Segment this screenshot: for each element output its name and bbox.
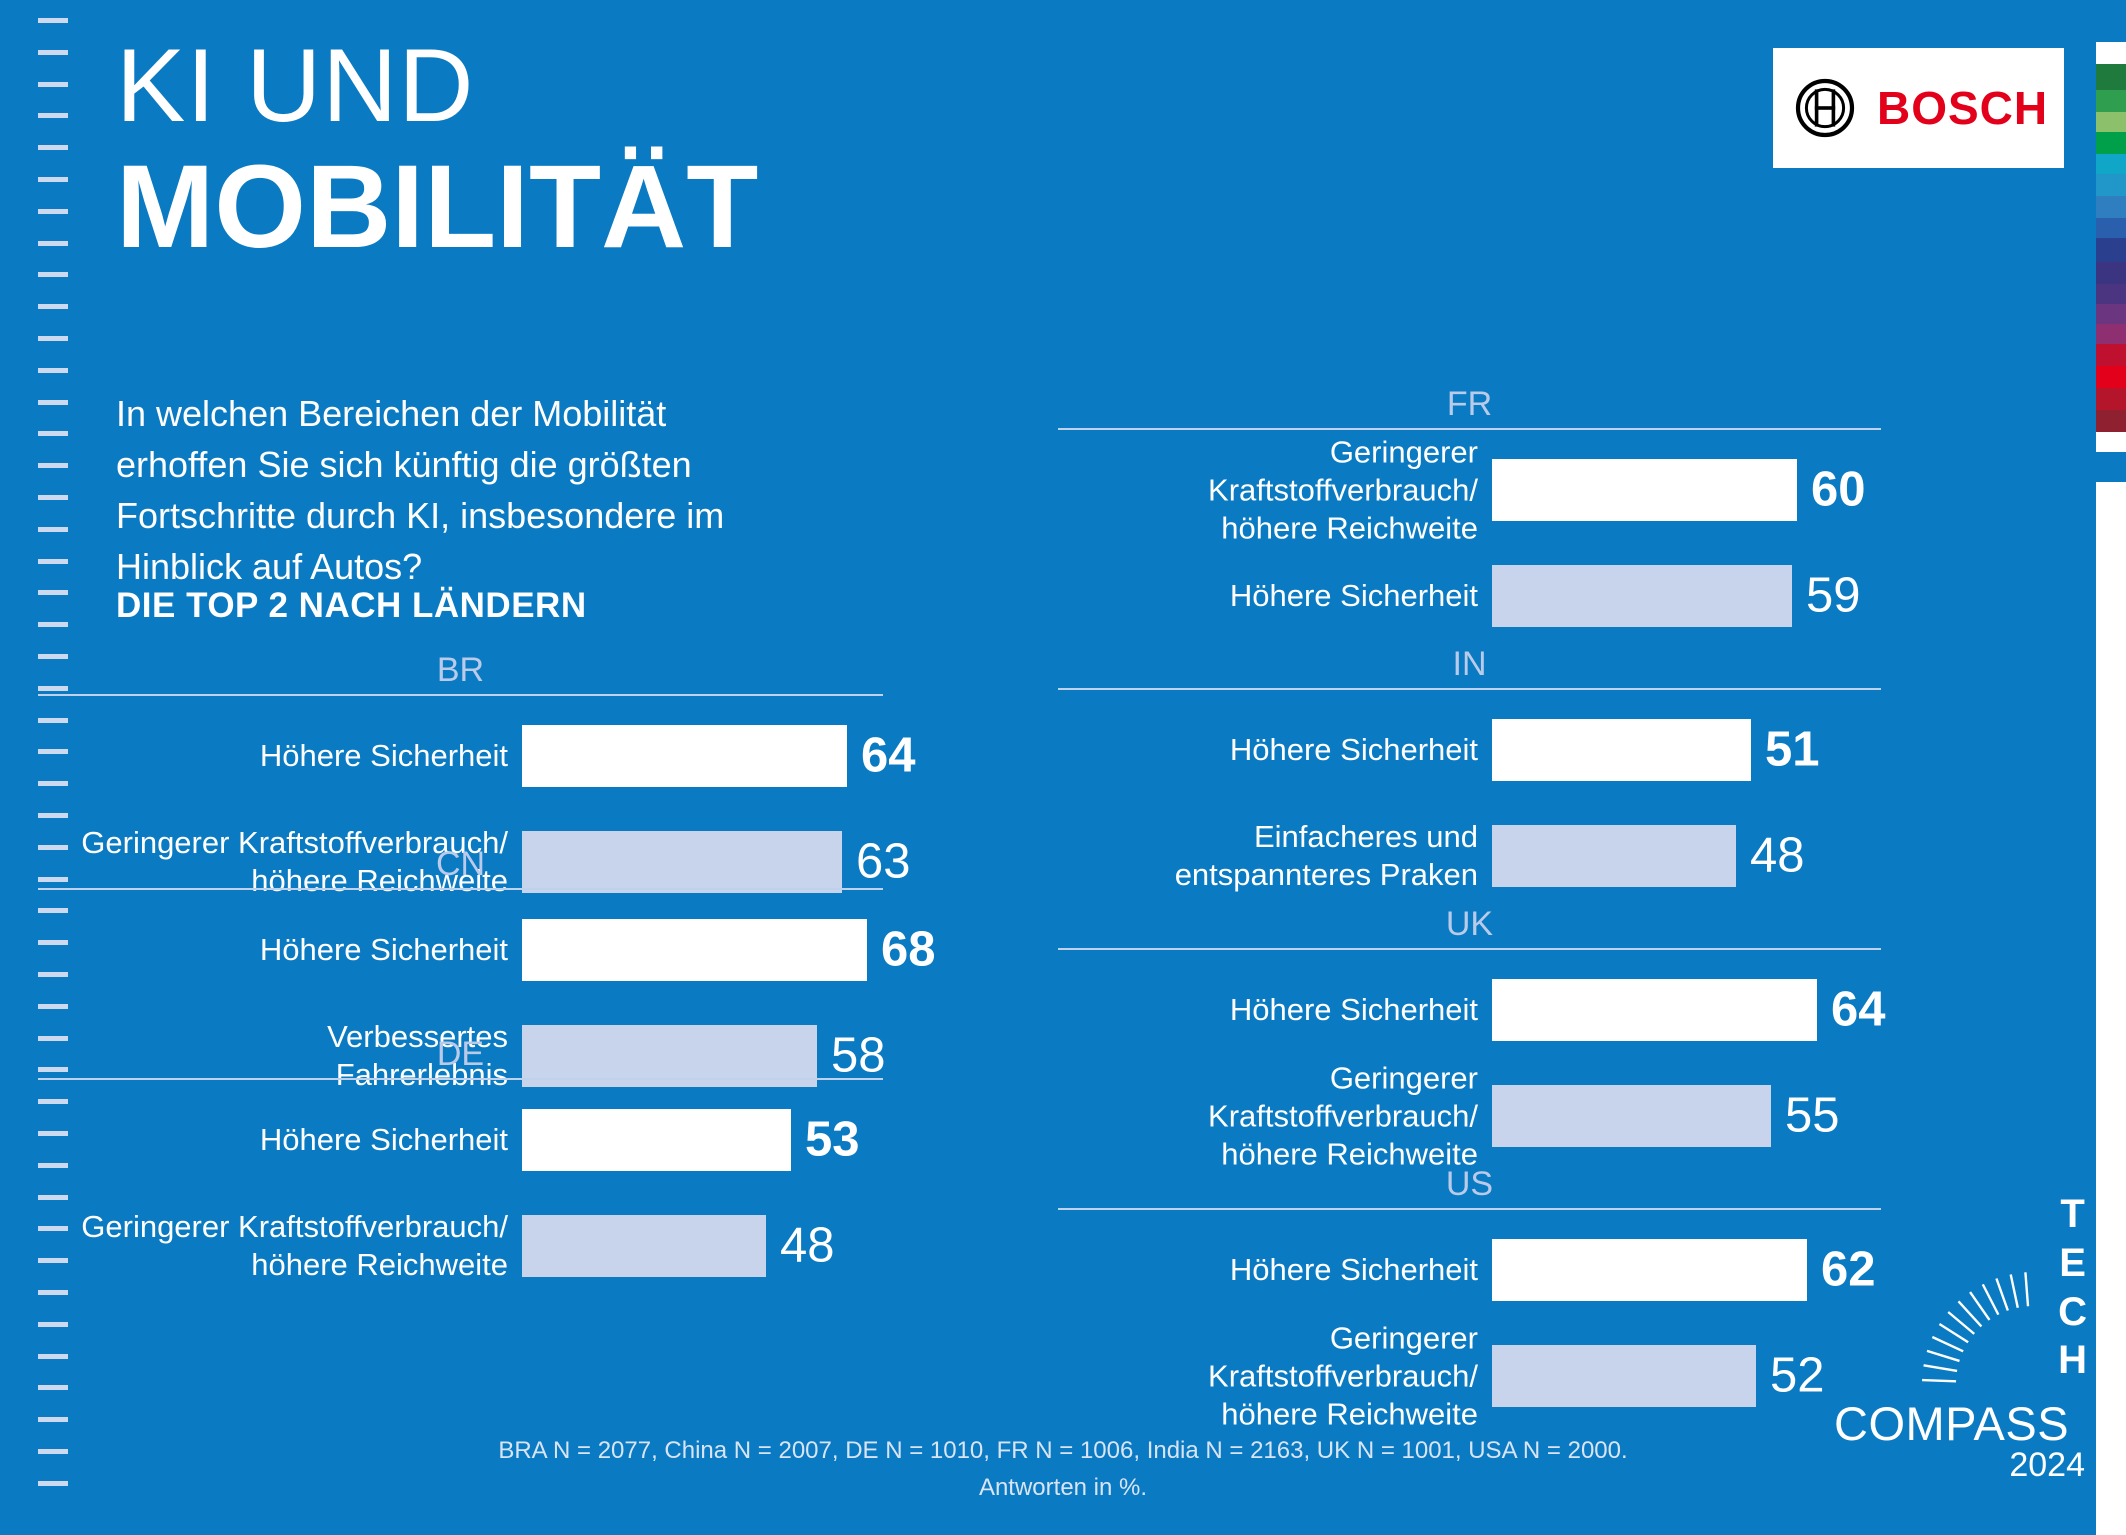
group-divider <box>38 694 883 696</box>
color-band <box>2096 284 2126 304</box>
group-header: BR <box>38 644 883 696</box>
tick-mark <box>38 527 68 532</box>
bar-row: Geringerer Kraftstoffverbrauch/ höhere R… <box>1058 1330 1881 1422</box>
bar-category-label: Höhere Sicherheit <box>1078 1251 1478 1289</box>
color-band <box>2096 452 2126 482</box>
group-header: US <box>1058 1158 1881 1210</box>
country-code-label: FR <box>1058 385 1881 424</box>
country-code-label: IN <box>1058 645 1881 684</box>
bar <box>1492 1085 1771 1147</box>
color-band <box>2096 482 2126 1535</box>
tick-mark <box>38 463 68 468</box>
tick-mark <box>38 431 68 436</box>
bar <box>522 919 867 981</box>
bar <box>1492 565 1792 627</box>
tick-mark <box>38 368 68 373</box>
bar-category-label: Geringerer Kraftstoffverbrauch/ höhere R… <box>1078 433 1478 546</box>
tick-mark <box>38 209 68 214</box>
group-divider <box>38 1078 883 1080</box>
color-band <box>2096 262 2126 284</box>
country-group-us: USHöhere Sicherheit62Geringerer Kraftsto… <box>1058 1158 1881 1422</box>
color-band <box>2096 388 2126 410</box>
tick-mark <box>38 495 68 500</box>
bar-category-label: Geringerer Kraftstoffverbrauch/ höhere R… <box>1078 1059 1478 1172</box>
color-band <box>2096 324 2126 344</box>
title-block: KI UND MOBILITÄT <box>116 34 758 270</box>
bar-category-label: Höhere Sicherheit <box>1078 577 1478 615</box>
tick-mark <box>38 113 68 118</box>
page-title-line1: KI UND <box>116 34 758 138</box>
country-group-fr: FRGeringerer Kraftstoffverbrauch/ höhere… <box>1058 378 1881 642</box>
tech-letter: H <box>2058 1336 2087 1385</box>
tech-letter: T <box>2058 1190 2087 1239</box>
color-band <box>2096 196 2126 218</box>
tech-compass-word: COMPASS <box>1834 1396 2069 1451</box>
bar <box>522 725 847 787</box>
group-divider <box>1058 688 1881 690</box>
tech-compass-year: 2024 <box>2009 1446 2085 1485</box>
page-title-line2: MOBILITÄT <box>116 146 758 270</box>
group-divider <box>1058 428 1881 430</box>
country-code-label: DE <box>38 1035 883 1074</box>
bar <box>522 1215 766 1277</box>
bar-value-label: 64 <box>861 732 916 781</box>
country-code-label: US <box>1058 1165 1881 1204</box>
color-band <box>2096 0 2126 42</box>
bar-row: Geringerer Kraftstoffverbrauch/ höhere R… <box>1058 444 1881 536</box>
bar-category-label: Höhere Sicherheit <box>58 737 508 775</box>
bar-category-label: Höhere Sicherheit <box>1078 731 1478 769</box>
bar-row: Höhere Sicherheit64 <box>1058 964 1881 1056</box>
compass-ray <box>1932 1337 1963 1351</box>
country-code-label: CN <box>38 845 883 884</box>
bosch-wordmark: BOSCH <box>1877 85 2048 131</box>
tick-mark <box>38 1417 68 1422</box>
color-band <box>2096 154 2126 174</box>
tick-mark <box>38 590 68 595</box>
color-spectrum-bar <box>2096 0 2126 1535</box>
tech-letter: E <box>2058 1239 2087 1288</box>
tick-mark <box>38 82 68 87</box>
country-group-in: INHöhere Sicherheit51Einfacheres und ent… <box>1058 638 1881 902</box>
bar-value-label: 64 <box>1831 986 1886 1035</box>
color-band <box>2096 238 2126 262</box>
tick-mark <box>38 1354 68 1359</box>
bar-value-label: 48 <box>1750 832 1805 881</box>
color-band <box>2096 218 2126 238</box>
bar-value-label: 53 <box>805 1116 860 1165</box>
bar-category-label: Höhere Sicherheit <box>58 1121 508 1159</box>
tick-mark <box>38 1385 68 1390</box>
tick-mark <box>38 145 68 150</box>
color-band <box>2096 174 2126 196</box>
bar-row: Höhere Sicherheit53 <box>38 1094 883 1186</box>
tick-mark <box>38 1322 68 1327</box>
compass-ray <box>1922 1380 1956 1381</box>
bar-value-label: 60 <box>1811 466 1866 515</box>
bar-value-label: 59 <box>1806 572 1861 621</box>
compass-ray <box>2011 1274 2018 1307</box>
color-band <box>2096 344 2126 366</box>
country-group-uk: UKHöhere Sicherheit64Geringerer Kraftsto… <box>1058 898 1881 1162</box>
color-band <box>2096 132 2126 154</box>
color-band <box>2096 64 2126 90</box>
country-code-label: BR <box>38 651 883 690</box>
bar <box>1492 459 1797 521</box>
tick-mark <box>38 50 68 55</box>
footnote: BRA N = 2077, China N = 2007, DE N = 101… <box>0 1432 2126 1506</box>
bar-row: Höhere Sicherheit68 <box>38 904 883 996</box>
bar <box>1492 1345 1756 1407</box>
footnote-line-1: BRA N = 2077, China N = 2007, DE N = 101… <box>0 1432 2126 1469</box>
bar-row: Höhere Sicherheit59 <box>1058 550 1881 642</box>
color-band <box>2096 432 2126 452</box>
bar <box>1492 825 1736 887</box>
tick-mark <box>38 304 68 309</box>
bar-row: Geringerer Kraftstoffverbrauch/ höhere R… <box>1058 1070 1881 1162</box>
compass-ray <box>1927 1351 1959 1361</box>
footnote-line-2: Antworten in %. <box>0 1469 2126 1506</box>
bar-row: Höhere Sicherheit51 <box>1058 704 1881 796</box>
group-divider <box>1058 1208 1881 1210</box>
section-heading: DIE TOP 2 NACH LÄNDERN <box>116 586 587 626</box>
tick-mark <box>38 18 68 23</box>
country-code-label: UK <box>1058 905 1881 944</box>
bar-value-label: 55 <box>1785 1092 1840 1141</box>
tech-compass-letters: TECH <box>2058 1190 2087 1385</box>
bar-category-label: Geringerer Kraftstoffverbrauch/ höhere R… <box>1078 1319 1478 1432</box>
group-header: IN <box>1058 638 1881 690</box>
color-band <box>2096 366 2126 388</box>
bar-row: Höhere Sicherheit64 <box>38 710 883 802</box>
bar-category-label: Höhere Sicherheit <box>1078 991 1478 1029</box>
bar-row: Einfacheres und entspannteres Praken48 <box>1058 810 1881 902</box>
bar-value-label: 52 <box>1770 1352 1825 1401</box>
tick-mark <box>38 622 68 627</box>
country-group-de: DEHöhere Sicherheit53Geringerer Kraftsto… <box>38 1028 883 1292</box>
bar-value-label: 48 <box>780 1222 835 1271</box>
bar-category-label: Einfacheres und entspannteres Praken <box>1078 818 1478 894</box>
bar-category-label: Höhere Sicherheit <box>58 931 508 969</box>
bar-row: Höhere Sicherheit62 <box>1058 1224 1881 1316</box>
bar <box>1492 1239 1807 1301</box>
compass-ray <box>2025 1272 2028 1306</box>
compass-ray <box>1939 1324 1968 1342</box>
bar <box>522 1109 791 1171</box>
compass-ray <box>1983 1284 1999 1314</box>
tech-letter: C <box>2058 1288 2087 1337</box>
bosch-anchor-icon <box>1795 78 1855 138</box>
bar <box>1492 979 1817 1041</box>
bosch-logo: BOSCH <box>1773 48 2064 168</box>
compass-ray <box>1924 1365 1958 1371</box>
tick-mark <box>38 400 68 405</box>
color-band <box>2096 90 2126 112</box>
bar-value-label: 68 <box>881 926 936 975</box>
tech-compass-logo: TECH COMPASS 2024 <box>1838 1190 2093 1450</box>
group-header: CN <box>38 838 883 890</box>
color-band <box>2096 410 2126 432</box>
tick-mark <box>38 177 68 182</box>
group-header: FR <box>1058 378 1881 430</box>
bar-value-label: 51 <box>1765 726 1820 775</box>
group-header: UK <box>1058 898 1881 950</box>
color-band <box>2096 112 2126 132</box>
group-header: DE <box>38 1028 883 1080</box>
group-divider <box>1058 948 1881 950</box>
bar-row: Geringerer Kraftstoffverbrauch/ höhere R… <box>38 1200 883 1292</box>
tick-mark <box>38 559 68 564</box>
bar <box>1492 719 1751 781</box>
infographic-page: KI UND MOBILITÄT In welchen Bereichen de… <box>0 0 2126 1535</box>
survey-question: In welchen Bereichen der Mobilität erhof… <box>116 388 796 592</box>
compass-rays-icon <box>1838 1234 2038 1384</box>
color-band <box>2096 304 2126 324</box>
tick-mark <box>38 272 68 277</box>
tick-mark <box>38 241 68 246</box>
compass-ray <box>1996 1278 2007 1310</box>
group-divider <box>38 888 883 890</box>
color-band <box>2096 42 2126 64</box>
bar-category-label: Geringerer Kraftstoffverbrauch/ höhere R… <box>58 1208 508 1284</box>
tick-mark <box>38 336 68 341</box>
